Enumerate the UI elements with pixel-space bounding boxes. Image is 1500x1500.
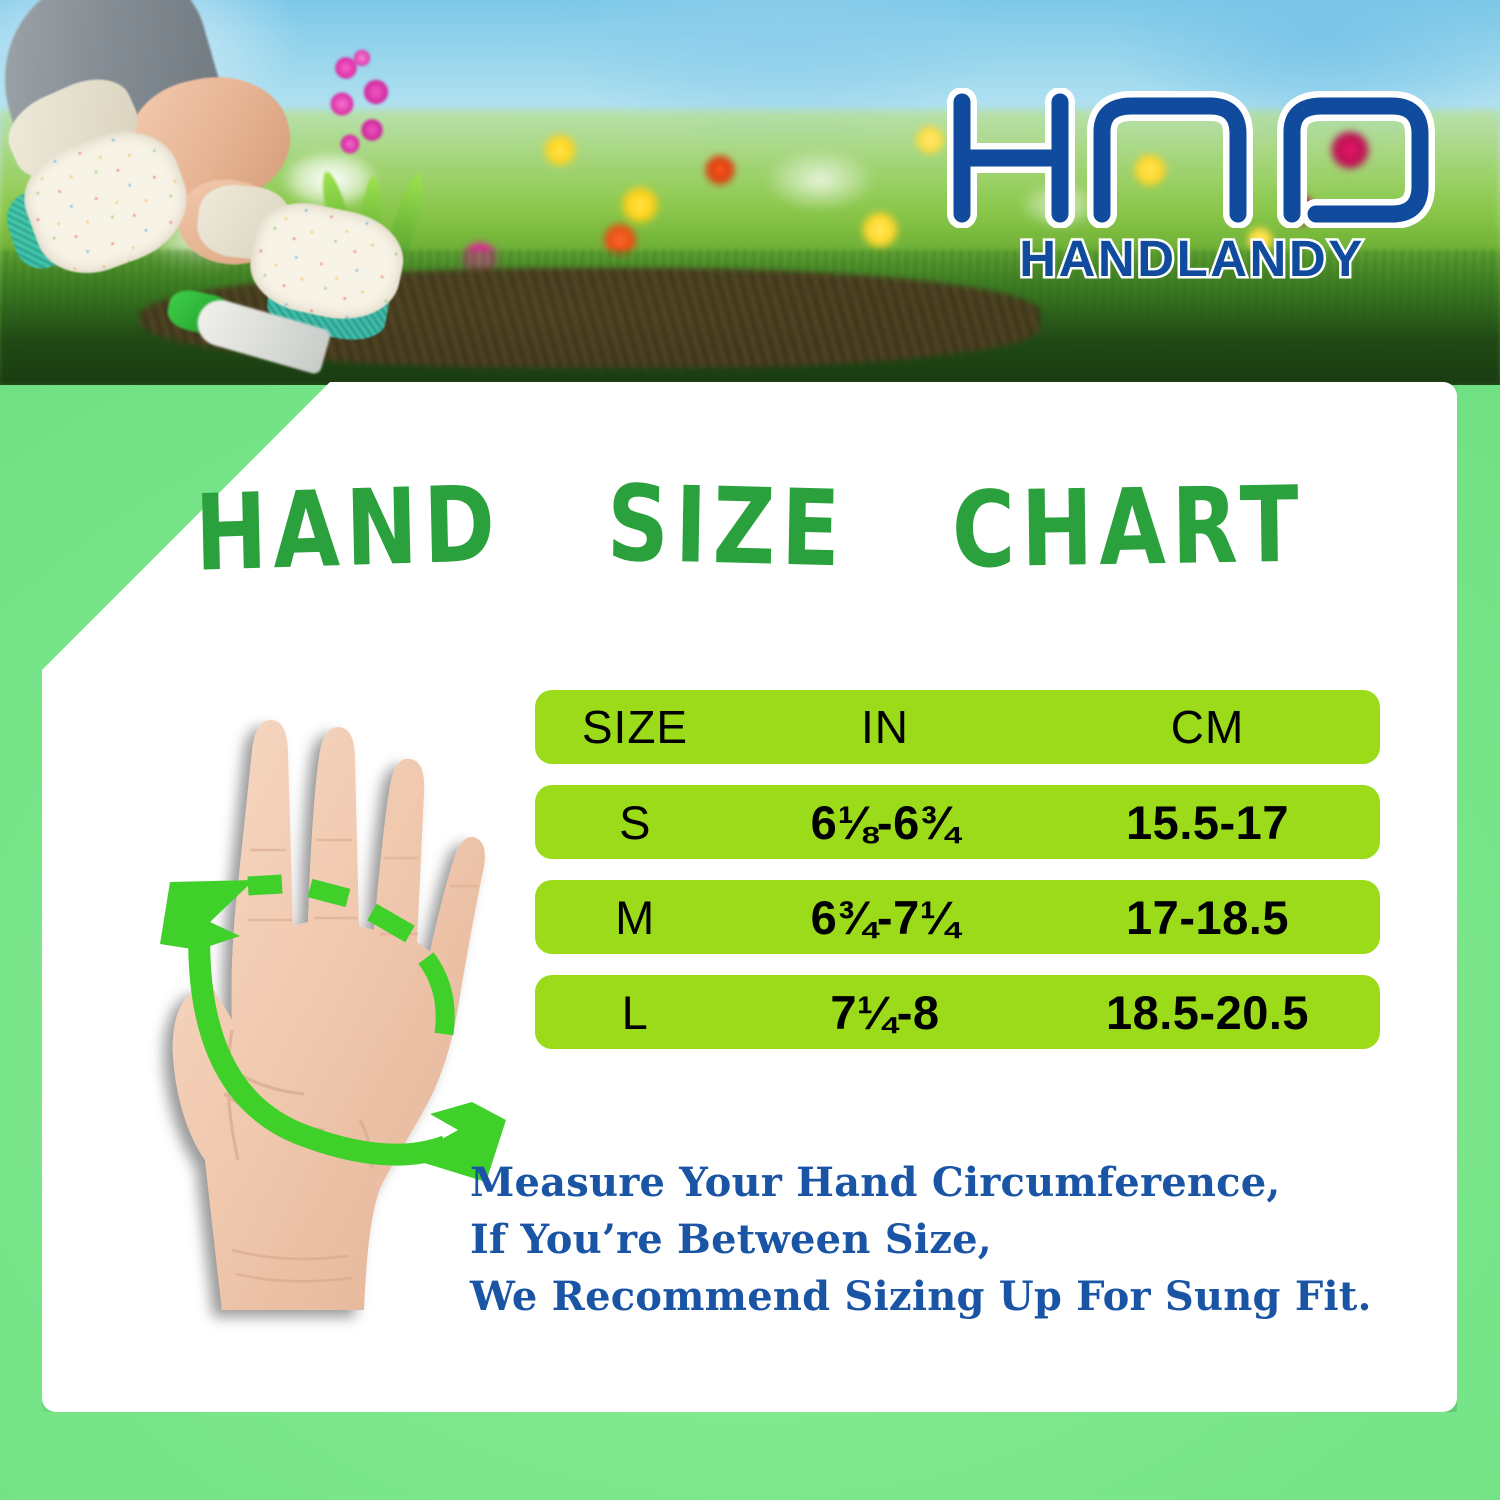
- header-cell-size: SIZE: [535, 704, 735, 750]
- cm-value-s: 15.5-17: [1126, 796, 1289, 849]
- size-value-s: S: [619, 796, 651, 849]
- cell-cm: 15.5-17: [1035, 799, 1380, 846]
- open-palm-icon: [72, 690, 502, 1320]
- size-value-l: L: [622, 986, 649, 1039]
- brand-logo: HANDLANDY: [942, 88, 1442, 288]
- title-word-3: CHART: [951, 464, 1305, 592]
- note-line-3: We Recommend Sizing Up For Sung Fit.: [470, 1269, 1390, 1326]
- note-line-2: If You’re Between Size,: [470, 1212, 1390, 1269]
- header-in-label: IN: [861, 701, 909, 753]
- cm-value-m: 17-18.5: [1126, 891, 1289, 944]
- sizing-note: Measure Your Hand Circumference, If You’…: [470, 1155, 1390, 1325]
- header-cell-cm: CM: [1035, 704, 1380, 750]
- cell-cm: 18.5-20.5: [1035, 989, 1380, 1036]
- page-title: HAND SIZE CHART: [0, 466, 1500, 588]
- cell-in: 7¼-8: [735, 989, 1035, 1036]
- note-line-1: Measure Your Hand Circumference,: [470, 1155, 1390, 1212]
- header-cell-in: IN: [735, 704, 1035, 750]
- table-row: L 7¼-8 18.5-20.5: [535, 975, 1380, 1049]
- in-value-m: 6¾-7¼: [811, 891, 960, 944]
- cell-in: 6¾-7¼: [735, 894, 1035, 941]
- cell-size: S: [535, 799, 735, 846]
- table-header-row: SIZE IN CM: [535, 690, 1380, 764]
- header-size-label: SIZE: [582, 701, 688, 753]
- title-word-2: SIZE: [606, 463, 847, 591]
- table-row: S 6⅛-6¾ 15.5-17: [535, 785, 1380, 859]
- cm-value-l: 18.5-20.5: [1106, 986, 1309, 1039]
- size-table: SIZE IN CM S 6⅛-6¾ 15.5-17 M: [535, 690, 1380, 1049]
- hero-photo-banner: HANDLANDY: [0, 0, 1500, 385]
- title-word-1: HAND: [194, 464, 502, 596]
- brand-wordmark: HANDLANDY: [942, 229, 1442, 288]
- cell-size: L: [535, 989, 735, 1036]
- cell-cm: 17-18.5: [1035, 894, 1380, 941]
- table-row: M 6¾-7¼ 17-18.5: [535, 880, 1380, 954]
- in-value-l: 7¼-8: [830, 986, 939, 1039]
- size-value-m: M: [615, 891, 655, 944]
- hand-illustration: [72, 690, 502, 1320]
- cell-size: M: [535, 894, 735, 941]
- cell-in: 6⅛-6¾: [735, 799, 1035, 846]
- in-value-s: 6⅛-6¾: [811, 796, 960, 849]
- header-cm-label: CM: [1171, 701, 1245, 753]
- size-chart-page: HANDLANDY HAND SIZE CHART: [0, 0, 1500, 1500]
- hnd-monogram-icon: [942, 88, 1442, 228]
